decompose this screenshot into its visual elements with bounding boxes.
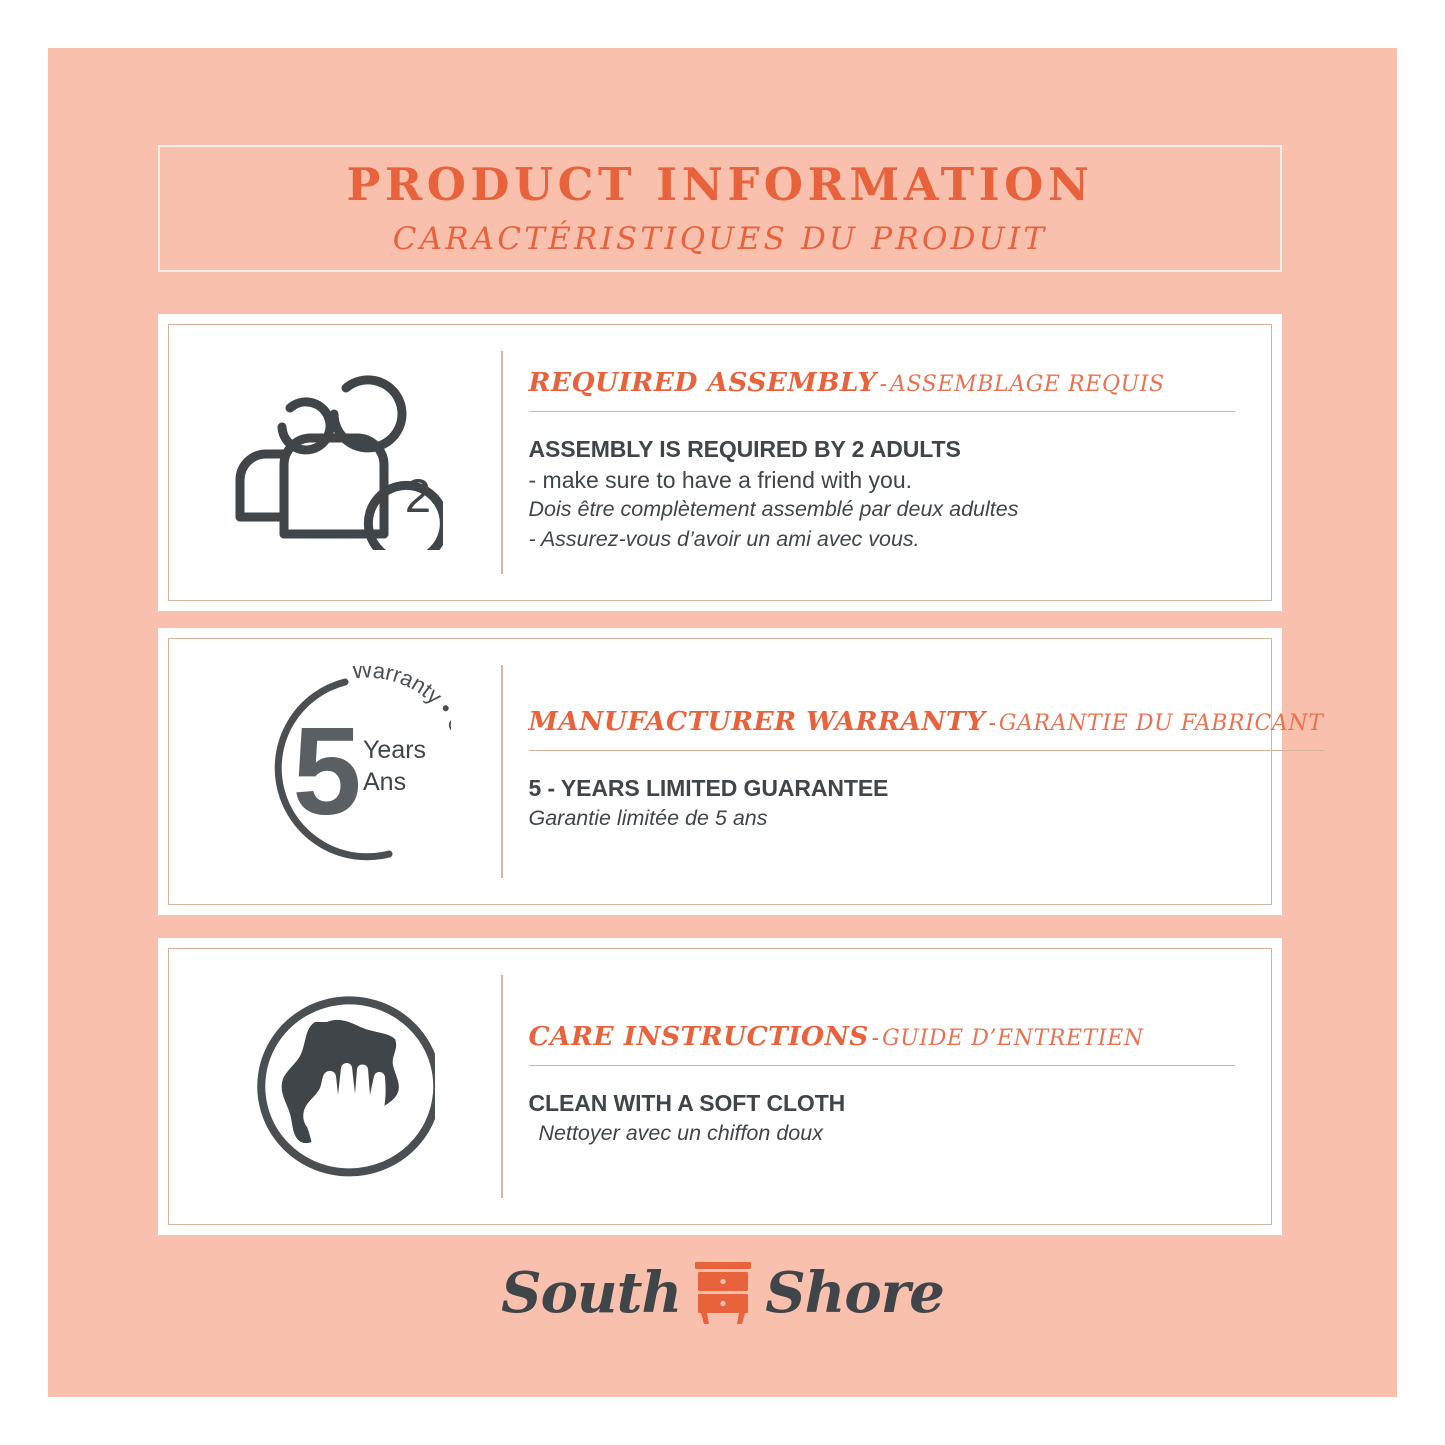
care-line-1: CLEAN WITH A SOFT CLOTH <box>529 1088 1236 1119</box>
care-heading-separator: - <box>869 1026 882 1051</box>
warranty-unit-en: Years <box>363 736 426 764</box>
header-box: PRODUCT INFORMATION CARACTÉRISTIQUES DU … <box>158 145 1282 272</box>
card-inner-border: 2 REQUIRED ASSEMBLY-ASSEMBLAGE REQUIS AS… <box>168 324 1272 601</box>
warranty-heading-fr: GARANTIE DU FABRICANT <box>999 711 1324 736</box>
assembly-heading-fr: ASSEMBLAGE REQUIS <box>890 372 1165 397</box>
five-year-warranty-seal-icon: 5 Years Ans Warranty • Garantie <box>219 666 451 878</box>
two-people-with-badge-icon: 2 <box>228 375 443 550</box>
assembly-heading-en: REQUIRED ASSEMBLY <box>529 367 877 398</box>
card-inner-border: 5 Years Ans Warranty • Garantie MANUFACT… <box>168 638 1272 905</box>
dresser-icon <box>693 1260 753 1326</box>
assembly-heading: REQUIRED ASSEMBLY-ASSEMBLAGE REQUIS <box>529 370 1236 397</box>
care-heading-rule <box>529 1065 1236 1067</box>
brand-logo-word-shore: Shore <box>765 1265 944 1321</box>
assembly-line-4: - Assurez-vous d’avoir un ami avec vous. <box>529 525 1236 555</box>
assembly-count-badge-number: 2 <box>404 469 430 522</box>
care-line-2: Nettoyer avec un chiffon doux <box>529 1119 1236 1149</box>
care-icon-column <box>169 949 501 1224</box>
care-text-column: CARE INSTRUCTIONS-GUIDE D’ENTRETIEN CLEA… <box>503 949 1272 1224</box>
card-required-assembly: 2 REQUIRED ASSEMBLY-ASSEMBLAGE REQUIS AS… <box>158 314 1282 611</box>
assembly-line-1: ASSEMBLY IS REQUIRED BY 2 ADULTS <box>529 434 1236 465</box>
assembly-text-column: REQUIRED ASSEMBLY-ASSEMBLAGE REQUIS ASSE… <box>503 325 1272 600</box>
warranty-heading-en: MANUFACTURER WARRANTY <box>529 706 986 737</box>
poster-root: PRODUCT INFORMATION CARACTÉRISTIQUES DU … <box>0 0 1445 1445</box>
warranty-years-number: 5 <box>293 703 362 841</box>
care-heading-en: CARE INSTRUCTIONS <box>529 1021 869 1052</box>
poster-background: PRODUCT INFORMATION CARACTÉRISTIQUES DU … <box>48 48 1397 1397</box>
warranty-line-1: 5 - YEARS LIMITED GUARANTEE <box>529 773 1324 804</box>
warranty-unit-fr: Ans <box>363 768 406 796</box>
page-title: PRODUCT INFORMATION <box>346 162 1093 207</box>
brand-logo: South Shore <box>48 1260 1397 1326</box>
warranty-heading-separator: - <box>985 711 998 736</box>
page-subtitle: CARACTÉRISTIQUES DU PRODUIT <box>393 224 1048 255</box>
assembly-heading-rule <box>529 411 1236 413</box>
hand-with-cloth-icon <box>235 989 435 1185</box>
card-inner-border: CARE INSTRUCTIONS-GUIDE D’ENTRETIEN CLEA… <box>168 948 1272 1225</box>
warranty-line-2: Garantie limitée de 5 ans <box>529 804 1324 834</box>
brand-logo-word-south: South <box>501 1265 681 1321</box>
card-manufacturer-warranty: 5 Years Ans Warranty • Garantie MANUFACT… <box>158 628 1282 915</box>
warranty-text-column: MANUFACTURER WARRANTY-GARANTIE DU FABRIC… <box>503 639 1360 904</box>
card-care-instructions: CARE INSTRUCTIONS-GUIDE D’ENTRETIEN CLEA… <box>158 938 1282 1235</box>
warranty-heading: MANUFACTURER WARRANTY-GARANTIE DU FABRIC… <box>529 709 1324 736</box>
warranty-heading-rule <box>529 750 1324 752</box>
assembly-heading-separator: - <box>877 372 890 397</box>
care-heading-fr: GUIDE D’ENTRETIEN <box>882 1026 1144 1051</box>
assembly-icon-column: 2 <box>169 325 501 600</box>
care-heading: CARE INSTRUCTIONS-GUIDE D’ENTRETIEN <box>529 1024 1236 1051</box>
assembly-line-3: Dois être complètement assemblé par deux… <box>529 495 1236 525</box>
warranty-icon-column: 5 Years Ans Warranty • Garantie <box>169 639 501 904</box>
assembly-line-2: - make sure to have a friend with you. <box>529 465 1236 496</box>
